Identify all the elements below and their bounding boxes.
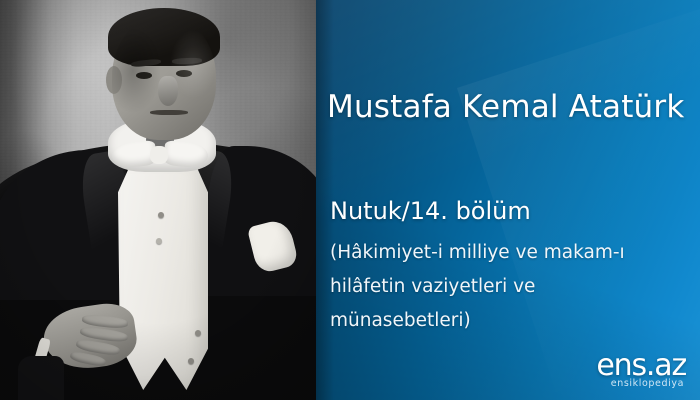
figure-bow-tie-knot — [150, 146, 168, 164]
chapter-title: Nutuk/14. bölüm — [330, 196, 690, 226]
description-line-2: hilâfetin vaziyetleri ve — [330, 270, 680, 304]
waistcoat-button — [158, 212, 164, 218]
waistcoat-button — [188, 358, 194, 364]
banner-image: Mustafa Kemal Atatürk Nutuk/14. bölüm (H… — [0, 0, 700, 400]
ens-az-logo[interactable]: ens.az ensiklopediya — [586, 352, 686, 392]
chapter-description: (Hâkimiyet-i milliye ve makam-ı hilâfeti… — [330, 236, 680, 338]
figure-face-shading — [112, 14, 216, 140]
portrait-photo — [0, 0, 316, 400]
description-line-1: (Hâkimiyet-i milliye ve makam-ı — [330, 236, 680, 270]
waistcoat-button — [195, 330, 201, 336]
description-line-3: münasebetleri) — [330, 304, 680, 338]
waistcoat-button — [156, 238, 162, 244]
figure-waistcoat — [118, 160, 208, 390]
logo-wordmark: ens.az — [586, 352, 686, 379]
figure-sleeve-cuff — [18, 356, 64, 400]
page-title: Mustafa Kemal Atatürk — [327, 88, 697, 126]
